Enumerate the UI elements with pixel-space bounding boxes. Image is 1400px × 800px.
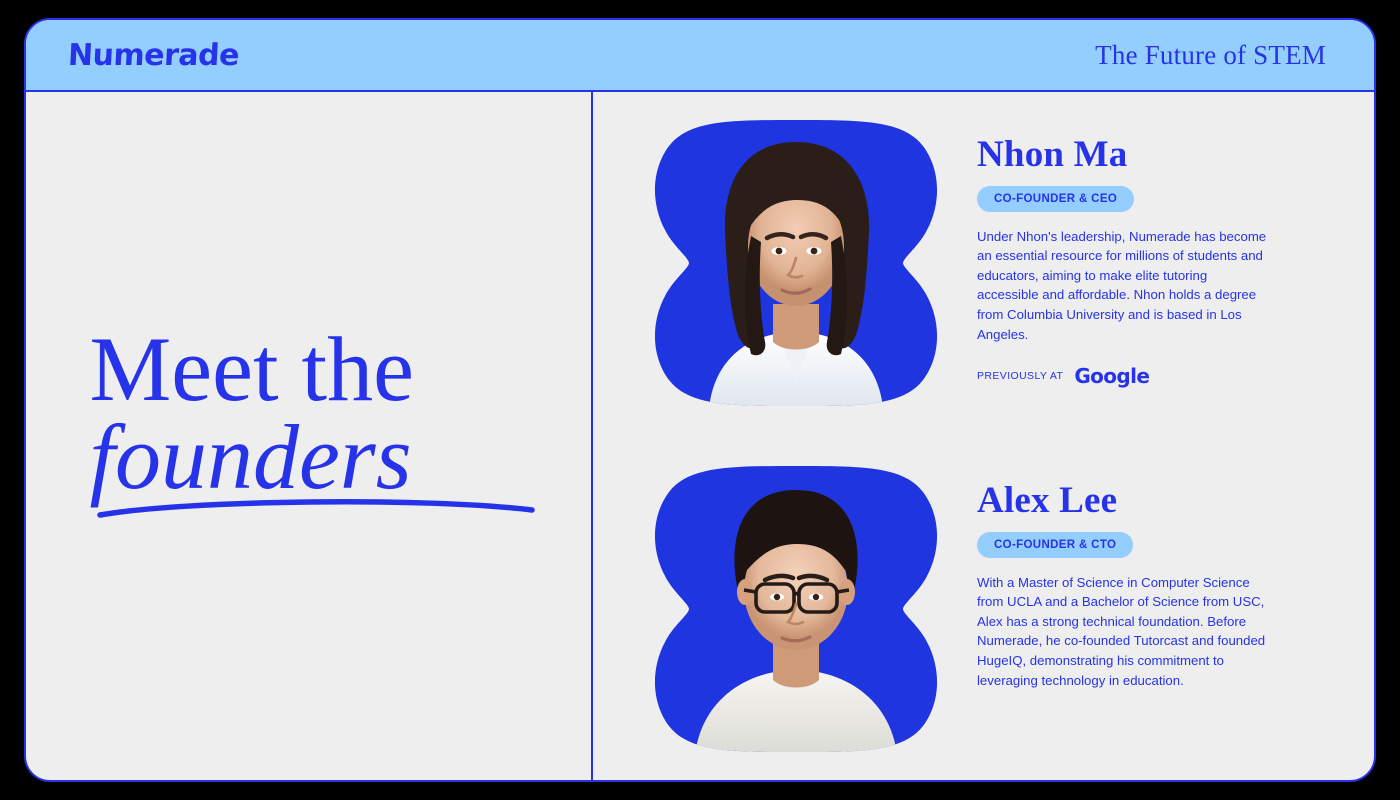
headline-pane: Meet the founders bbox=[26, 92, 593, 780]
founder-info-nhon-ma: Nhon Ma CO-FOUNDER & CEO Under Nhon's le… bbox=[977, 118, 1267, 388]
founder-info-alex-lee: Alex Lee CO-FOUNDER & CTO With a Master … bbox=[977, 464, 1267, 690]
portrait-blob-icon bbox=[651, 464, 941, 754]
founder-name: Nhon Ma bbox=[977, 136, 1267, 175]
body-area: Meet the founders bbox=[26, 92, 1374, 780]
previously-at-label: PREVIOUSLY AT bbox=[977, 370, 1063, 382]
founder-bio: Under Nhon's leadership, Numerade has be… bbox=[977, 227, 1267, 344]
headline-line-2: founders bbox=[90, 413, 536, 501]
role-badge: CO-FOUNDER & CEO bbox=[977, 186, 1134, 212]
role-badge: CO-FOUNDER & CTO bbox=[977, 532, 1133, 558]
portrait-blob-icon bbox=[651, 118, 941, 408]
google-logo: Google bbox=[1074, 364, 1149, 388]
founder-name: Alex Lee bbox=[977, 482, 1267, 521]
headline-line-1: Meet the bbox=[90, 325, 536, 413]
portrait-nhon-ma bbox=[651, 118, 941, 408]
portrait-alex-lee bbox=[651, 464, 941, 754]
founder-card-alex-lee: Alex Lee CO-FOUNDER & CTO With a Master … bbox=[651, 464, 1344, 754]
slide-card: Numerade The Future of STEM Meet the fou… bbox=[24, 18, 1376, 782]
header-tagline: The Future of STEM bbox=[1095, 40, 1344, 71]
founder-card-nhon-ma: Nhon Ma CO-FOUNDER & CEO Under Nhon's le… bbox=[651, 118, 1344, 408]
numerade-logo[interactable]: Numerade bbox=[67, 38, 240, 73]
founders-pane: Nhon Ma CO-FOUNDER & CEO Under Nhon's le… bbox=[593, 92, 1374, 780]
previously-at-row: PREVIOUSLY AT Google bbox=[977, 364, 1267, 388]
header-bar: Numerade The Future of STEM bbox=[26, 20, 1374, 92]
founder-bio: With a Master of Science in Computer Sci… bbox=[977, 573, 1267, 690]
headline-block: Meet the founders bbox=[82, 325, 536, 522]
